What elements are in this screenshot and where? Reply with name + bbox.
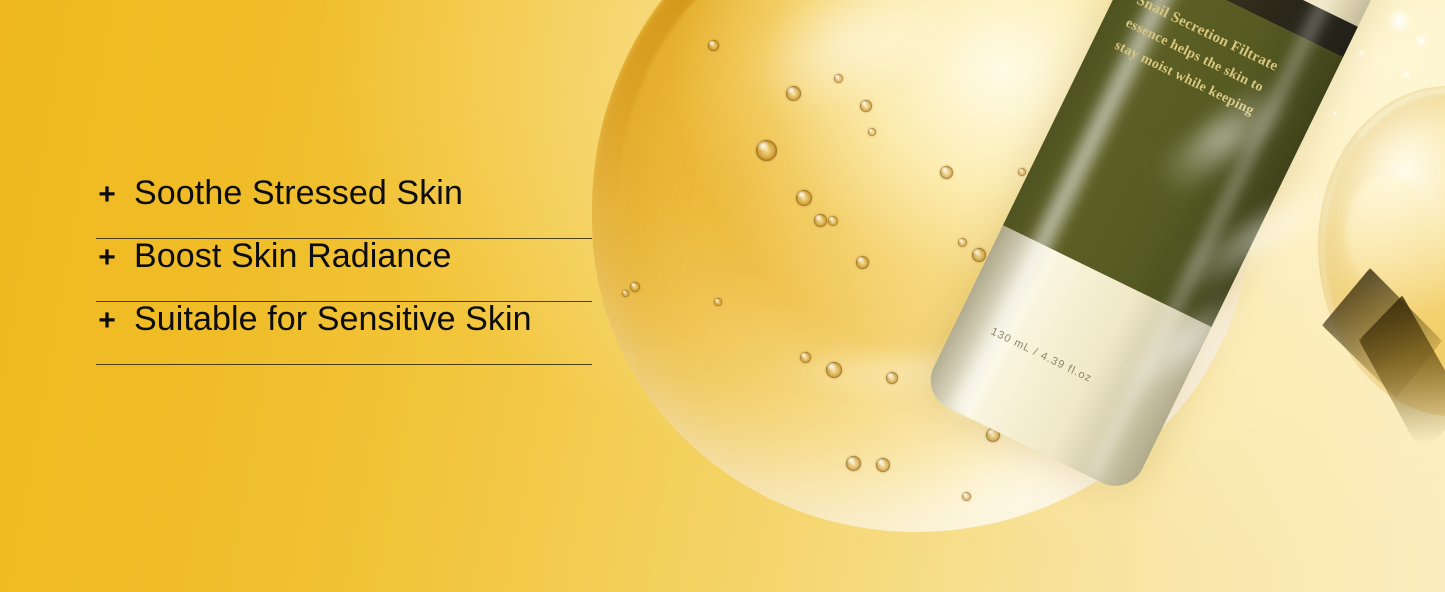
gel-bubble [876, 458, 890, 472]
benefit-item-3: + Suitable for Sensitive Skin [96, 302, 592, 364]
gel-bubble [796, 190, 812, 206]
plus-icon: + [96, 306, 118, 336]
plus-icon: + [96, 243, 118, 273]
gel-bubble [708, 40, 719, 51]
gel-droplet-secondary-shadow [1336, 288, 1445, 463]
plus-icon: + [96, 180, 118, 210]
product-benefits-banner: ESSENCE COSRX Snail Secretion Filtrate e… [0, 0, 1445, 592]
gel-bubble [826, 362, 842, 378]
gel-bubble [856, 256, 869, 269]
bottle-cap-band [1134, 0, 1357, 57]
bottle-tip-shadow [1322, 268, 1442, 398]
gel-bubble [800, 352, 811, 363]
gel-bubble [868, 128, 876, 136]
bottle-label-line-2: essence helps the skin to [1123, 16, 1266, 97]
gel-bubble [1018, 168, 1026, 176]
sparkle-bokeh [1332, 110, 1338, 116]
bottle-fold-highlight [1121, 285, 1253, 401]
gel-bubble [940, 166, 953, 179]
gel-bubble [986, 428, 1000, 442]
cosrx-essence-bottle: ESSENCE COSRX Snail Secretion Filtrate e… [921, 0, 1432, 496]
gel-bubble [972, 248, 986, 262]
gel-bubble [886, 372, 898, 384]
sparkle-bokeh [1386, 8, 1412, 34]
bottle-label-line-1: Snail Secretion Filtrate [1134, 0, 1281, 76]
gel-droplet-under-highlight [700, 330, 1220, 540]
gel-bubble [1050, 374, 1063, 387]
benefit-item-1: + Soothe Stressed Skin [96, 176, 592, 238]
benefit-item-2: + Boost Skin Radiance [96, 239, 592, 301]
gel-droplet-highlight [679, 0, 1021, 180]
gel-bubble [756, 140, 777, 161]
bottle-volume-text: 130 mL / 4.39 fl.oz [989, 326, 1094, 385]
gel-bubble [846, 456, 861, 471]
gel-bubble [834, 74, 843, 83]
bottle-highlight-left [944, 0, 1277, 421]
gel-bubble [786, 86, 801, 101]
bottle-highlight-right [1082, 0, 1404, 483]
gel-bubble [814, 214, 827, 227]
gel-bubble [630, 282, 640, 292]
gel-droplet-secondary-inner [1346, 176, 1432, 296]
gel-bubble [962, 492, 971, 501]
sparkle-bokeh [1414, 34, 1428, 48]
benefit-label-3: Suitable for Sensitive Skin [134, 302, 532, 336]
benefit-label-2: Boost Skin Radiance [134, 239, 452, 273]
bottle-fold-highlight [1153, 78, 1293, 199]
gel-bubble [828, 216, 838, 226]
gel-droplet-secondary-rim [1320, 88, 1445, 419]
sparkle-bokeh [1358, 50, 1365, 57]
bottle-label-panel [1003, 0, 1343, 327]
gel-droplet-main [592, 0, 1252, 532]
benefits-list: + Soothe Stressed Skin + Boost Skin Radi… [96, 176, 592, 365]
gel-bubble [622, 290, 629, 297]
bottle-fold-highlight [1174, 172, 1351, 298]
gel-bubble [714, 298, 722, 306]
gel-bubble [958, 238, 967, 247]
bottle-label-line-3: stay moist while keeping [1112, 38, 1257, 119]
gel-bubble [860, 100, 872, 112]
gel-droplet-main-rim [594, 0, 1250, 530]
sparkle-bokeh [1402, 70, 1411, 79]
gel-droplet-secondary [1318, 86, 1445, 416]
benefit-label-1: Soothe Stressed Skin [134, 176, 463, 210]
bottle-body-lower [921, 225, 1212, 496]
benefit-divider-3 [96, 364, 592, 365]
